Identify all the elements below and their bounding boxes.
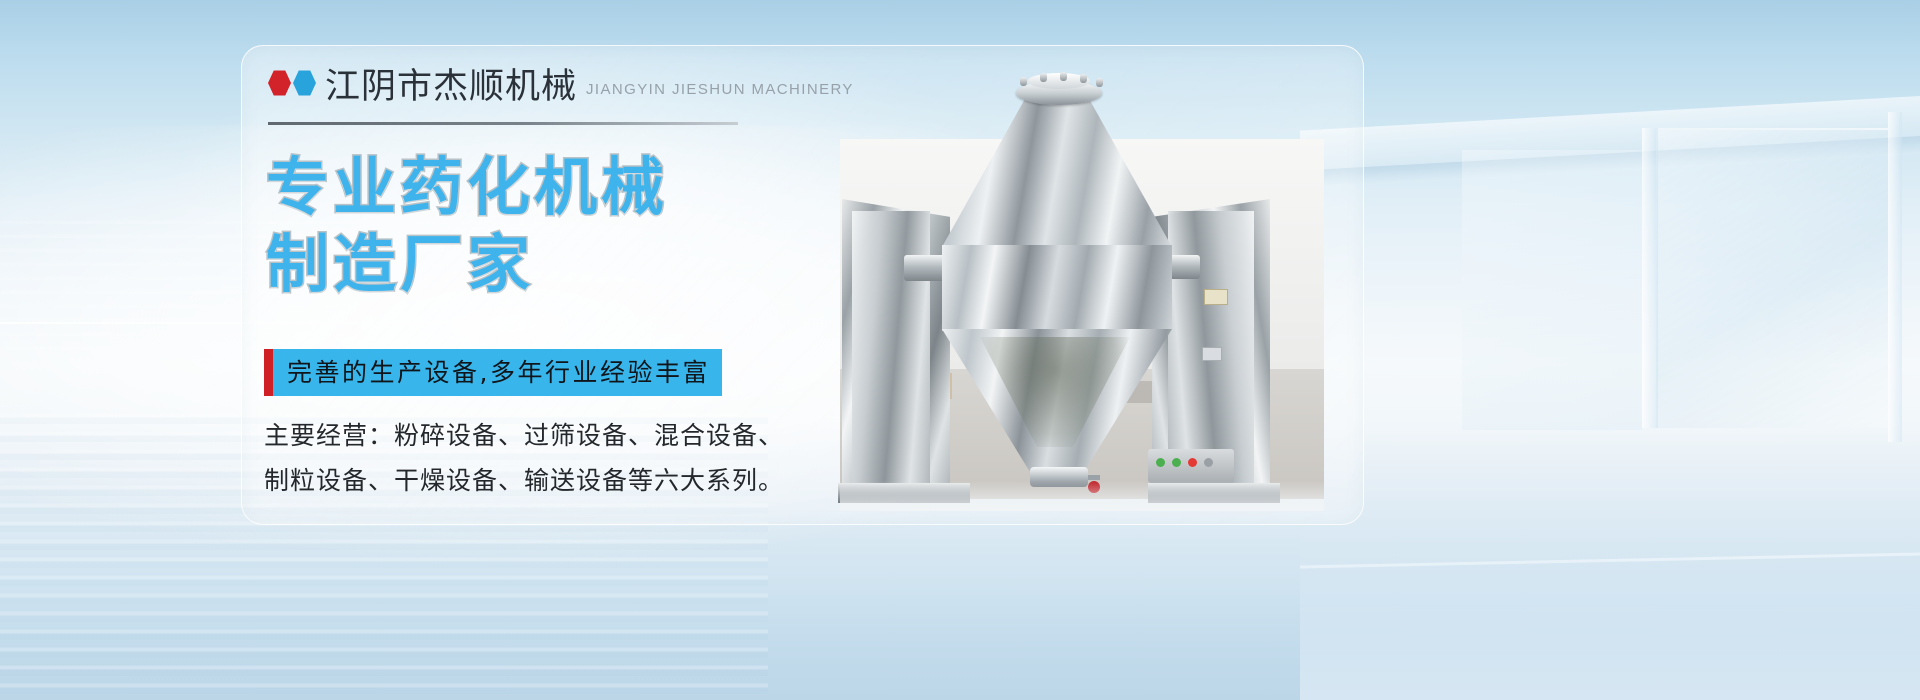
hexagon-blue-icon bbox=[293, 70, 316, 96]
brand-logo[interactable]: 江阴市杰顺机械 JIANGYIN JIESHUN MACHINERY bbox=[268, 70, 854, 105]
hero-headline: 专业药化机械 制造厂家 bbox=[266, 150, 668, 304]
panel-button-green bbox=[1172, 458, 1181, 467]
machine-leg-left-face bbox=[852, 211, 930, 483]
flange-bolt bbox=[1096, 78, 1103, 87]
hexagon-red-icon bbox=[268, 70, 291, 96]
product-photo bbox=[812, 51, 1352, 521]
architecture-backdrop bbox=[1300, 0, 1920, 700]
column-right bbox=[1888, 112, 1902, 442]
tagline-accent-bar bbox=[264, 349, 273, 396]
equipment-label bbox=[1202, 347, 1222, 361]
flange-bolt bbox=[1040, 73, 1047, 82]
logo-divider bbox=[268, 122, 738, 125]
flange-bolt bbox=[1060, 72, 1067, 81]
hero-card: 江阴市杰顺机械 JIANGYIN JIESHUN MACHINERY 专业药化机… bbox=[241, 45, 1364, 525]
equipment-label bbox=[1204, 289, 1228, 305]
panel-button-red bbox=[1188, 458, 1197, 467]
panel-button-grey bbox=[1204, 458, 1213, 467]
logo-hex-mark bbox=[268, 70, 316, 96]
glass-panel-left bbox=[1462, 150, 1642, 430]
atmospheric-haze bbox=[1300, 500, 1920, 700]
hero-description: 主要经营：粉碎设备、过筛设备、混合设备、 制粒设备、干燥设备、输送设备等六大系列… bbox=[264, 414, 784, 503]
panel-button-green bbox=[1156, 458, 1165, 467]
photo-bottom-fade bbox=[840, 481, 1324, 511]
flange-bolt bbox=[1080, 74, 1087, 83]
brand-name-cn: 江阴市杰顺机械 bbox=[325, 70, 577, 105]
column-left bbox=[1642, 128, 1658, 428]
glass-panel-right bbox=[1656, 128, 1888, 428]
control-panel bbox=[1148, 449, 1234, 483]
vessel-cylinder bbox=[942, 245, 1172, 331]
tagline-banner: 完善的生产设备,多年行业经验丰富 bbox=[264, 349, 722, 396]
tagline-text: 完善的生产设备,多年行业经验丰富 bbox=[273, 360, 722, 385]
flange-bolt bbox=[1020, 77, 1027, 86]
